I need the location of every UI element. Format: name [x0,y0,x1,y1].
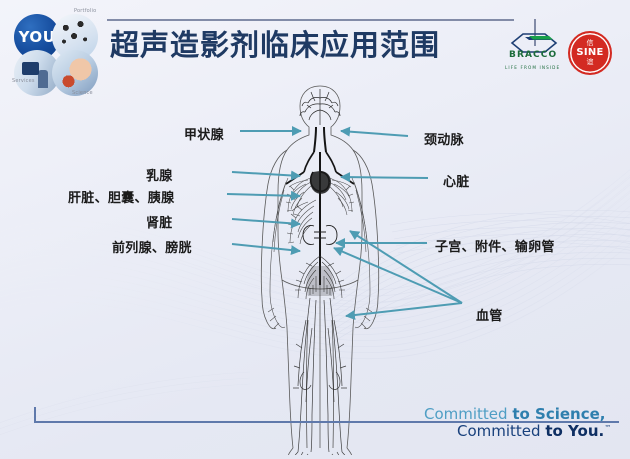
tagline-line-1: Committed to Science, [424,406,611,423]
slide-canvas: 超声造影剂临床应用范围 YOU Portfolio Services Scien… [0,0,630,459]
tagline-1-bold: to Science, [512,405,605,423]
label-breast: 乳腺 [146,165,173,184]
anatomy-figure [256,80,384,455]
tagline-2-bold: to You. [545,422,604,440]
logo-label-portfolio: Portfolio [74,8,96,14]
label-thyroid: 甲状腺 [184,124,224,143]
tagline-2-light: Committed [457,422,545,440]
logo-you-text: YOU [19,28,56,46]
sine-seal-logo: 信 SINE 谊 [568,31,612,75]
bracco-wordmark: BRACCO [509,50,557,60]
heart-shape [310,171,331,194]
trademark-symbol: ™ [604,424,611,432]
sine-cn-bottom: 谊 [587,59,594,66]
bracco-tagline: LIFE FROM INSIDE [505,65,560,70]
title-divider-horizontal [107,19,514,21]
circulatory-system-illustration [256,80,384,455]
page-title: 超声造影剂临床应用范围 [110,22,440,64]
sine-cn-top: 信 [587,40,594,47]
tagline-line-2: Committed to You.™ [424,423,611,440]
logo-label-science: Science [72,90,93,96]
bracco-logo: BRACCO LIFE FROM INSIDE [505,33,563,73]
label-kidney: 肾脏 [146,212,173,231]
label-uterus: 子宫、附件、输卵管 [435,236,555,255]
brand-tagline: Committed to Science, Committed to You.™ [424,406,611,441]
footer-tick [34,407,36,422]
label-prostate: 前列腺、膀胱 [112,237,192,256]
tagline-1-light: Committed [424,405,512,423]
label-carotid: 颈动脉 [424,129,464,148]
you-quadrant-logo: YOU Portfolio Services Science [12,6,108,94]
label-heart: 心脏 [443,171,470,190]
sine-wordmark: SINE [576,48,603,58]
label-vessels: 血管 [476,305,503,324]
logo-label-services: Services [12,78,35,84]
pelvic-vessel-bed [306,266,333,296]
label-liver: 肝脏、胆囊、胰腺 [68,187,174,206]
